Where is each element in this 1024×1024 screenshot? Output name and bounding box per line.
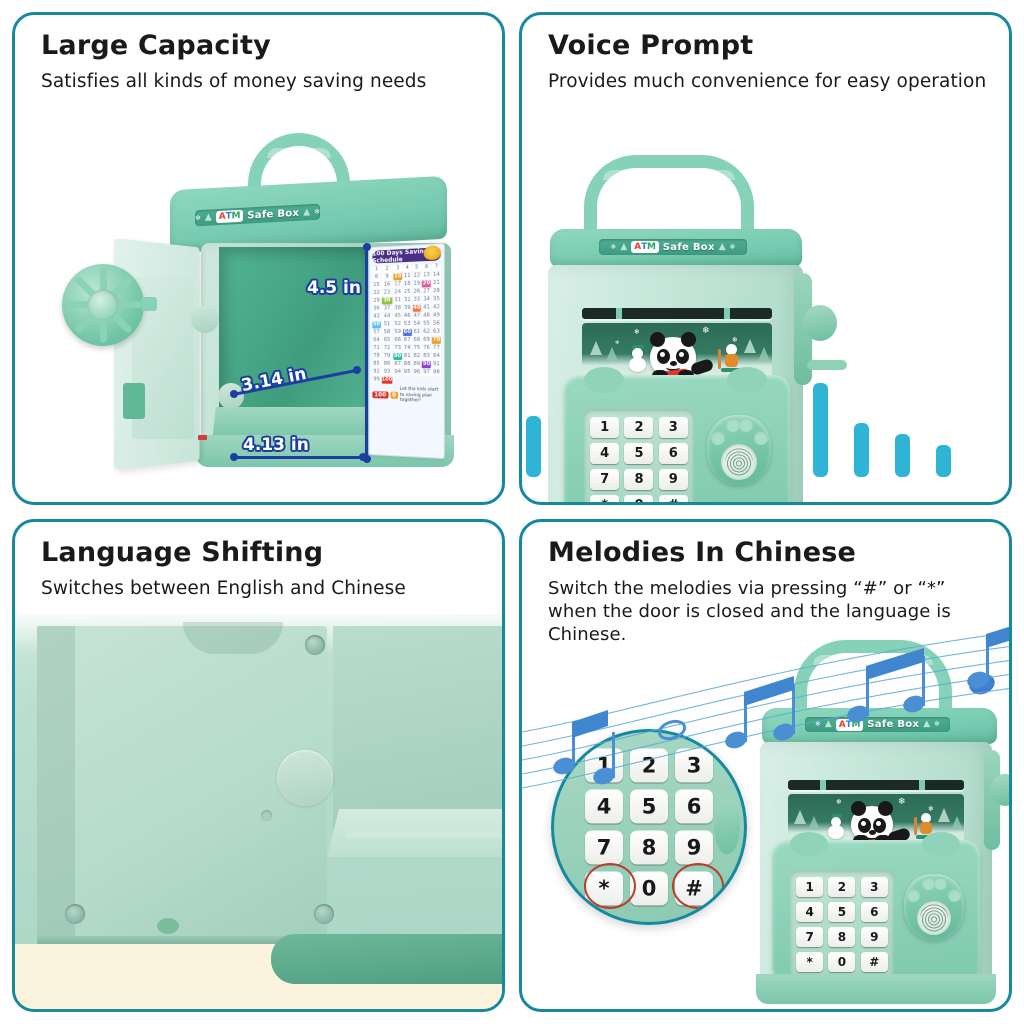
logo-letter-a: A xyxy=(219,211,226,223)
panda-eye xyxy=(657,349,670,364)
paw-toe xyxy=(948,889,961,902)
key-4[interactable]: 4 xyxy=(796,902,823,922)
schedule-day-49: 49 xyxy=(432,312,441,319)
dimension-cap xyxy=(230,390,238,398)
savings-schedule-sticker: 100 Days Saving Schedule 123456789101112… xyxy=(369,243,445,459)
schedule-day-100: 100 xyxy=(382,377,393,384)
paw-toe xyxy=(754,431,768,445)
schedule-day-99: 99 xyxy=(372,377,380,384)
snowflake-icon: ❄ xyxy=(611,244,617,251)
schedule-day-55: 55 xyxy=(422,321,431,328)
schedule-day-89: 89 xyxy=(413,361,422,368)
key-7[interactable]: 7 xyxy=(585,831,623,865)
schedule-day-61: 61 xyxy=(413,329,422,336)
schedule-day-33: 33 xyxy=(413,297,422,304)
dimension-cap xyxy=(353,366,361,374)
schedule-day-25: 25 xyxy=(403,289,412,296)
schedule-day-77: 77 xyxy=(432,345,441,352)
schedule-day-50: 50 xyxy=(372,321,380,328)
schedule-day-71: 71 xyxy=(372,345,380,352)
schedule-day-36: 36 xyxy=(372,306,380,313)
keypad-magnifier: 1 2 3 4 5 6 7 8 9 * 0 # xyxy=(551,729,747,925)
schedule-day-63: 63 xyxy=(432,329,441,336)
schedule-day-21: 21 xyxy=(432,280,441,287)
snowman-figure xyxy=(828,814,848,842)
waveform-bar xyxy=(936,445,951,477)
schedule-day-66: 66 xyxy=(393,337,402,344)
schedule-day-52: 52 xyxy=(393,321,402,328)
fingerprint-icon xyxy=(725,448,754,477)
schedule-day-65: 65 xyxy=(382,337,393,344)
schedule-day-42: 42 xyxy=(432,304,441,311)
schedule-day-81: 81 xyxy=(403,353,412,360)
schedule-day-59: 59 xyxy=(393,329,402,336)
logo-letter-a: A xyxy=(634,241,641,253)
schedule-day-27: 27 xyxy=(422,288,431,295)
key-4[interactable]: 4 xyxy=(585,790,623,824)
panda-character xyxy=(650,337,696,377)
pine-tree-icon xyxy=(951,816,963,830)
schedule-day-8: 8 xyxy=(372,274,380,281)
fingerprint-sensor-paw[interactable] xyxy=(904,874,964,940)
keypad[interactable]: 1 2 3 4 5 6 7 8 9 * 0 # xyxy=(584,409,694,505)
key-3[interactable]: 3 xyxy=(861,877,888,897)
music-note-accent xyxy=(967,670,998,697)
fingerprint-pad[interactable] xyxy=(917,901,951,935)
bear-ear-bump xyxy=(584,367,624,393)
logo-letter-m: M xyxy=(232,210,241,222)
logo-letter-m: M xyxy=(852,719,861,731)
key-6[interactable]: 6 xyxy=(675,790,713,824)
snowflake-icon: ❄ xyxy=(702,327,710,336)
panel-3-subtitle: Switches between English and Chinese xyxy=(41,577,484,601)
bear-ear-bump xyxy=(790,832,828,856)
schedule-badge-0: 0 xyxy=(390,392,398,399)
schedule-day-3: 3 xyxy=(393,265,402,272)
key-0[interactable]: 0 xyxy=(624,495,653,506)
ship-wheel-lock-handle[interactable] xyxy=(62,264,144,346)
snowflake-icon: ❄ xyxy=(634,329,640,336)
screw xyxy=(305,635,325,655)
schedule-day-72: 72 xyxy=(382,345,393,352)
panel-1-subtitle: Satisfies all kinds of money saving need… xyxy=(41,70,484,94)
schedule-day-82: 82 xyxy=(413,353,422,360)
round-boss xyxy=(277,750,333,806)
schedule-day-10: 10 xyxy=(393,273,402,280)
key-3[interactable]: 3 xyxy=(659,417,688,438)
atm-badge: ATM xyxy=(836,719,863,731)
schedule-day-97: 97 xyxy=(422,369,431,376)
pine-tree-icon: ▲ xyxy=(303,208,310,217)
schedule-day-54: 54 xyxy=(413,321,422,328)
panel-3-title: Language Shifting xyxy=(41,538,484,568)
schedule-day-88: 88 xyxy=(403,361,412,368)
schedule-day-60: 60 xyxy=(403,329,412,336)
logo-safe-box-text: Safe Box xyxy=(247,207,299,221)
dimension-cap xyxy=(363,243,371,251)
ski-pole xyxy=(914,817,917,835)
schedule-day-4: 4 xyxy=(403,265,412,272)
schedule-day-32: 32 xyxy=(403,297,412,304)
panda-ear xyxy=(650,332,665,347)
door-motor-disc xyxy=(191,305,219,333)
schedule-day-46: 46 xyxy=(403,313,412,320)
snowman-figure xyxy=(628,345,650,375)
schedule-day-94: 94 xyxy=(393,369,402,376)
fingerprint-icon xyxy=(920,904,947,931)
key-0[interactable]: 0 xyxy=(828,952,855,972)
waveform-bar xyxy=(854,423,869,477)
waveform-bar xyxy=(526,416,541,477)
schedule-day-64: 64 xyxy=(372,337,380,344)
right-cavity xyxy=(333,626,505,831)
schedule-day-9: 9 xyxy=(382,274,393,281)
key-star[interactable]: * xyxy=(590,495,619,506)
schedule-day-24: 24 xyxy=(393,289,402,296)
dimension-cap xyxy=(359,453,367,461)
schedule-day-58: 58 xyxy=(382,329,393,336)
key-8[interactable]: 8 xyxy=(624,469,653,490)
side-lock-bar xyxy=(807,360,847,370)
hash-key-highlight-circle xyxy=(672,863,724,909)
snowflake-icon: ❄ xyxy=(615,341,619,346)
skier-body xyxy=(920,822,932,834)
skier-body xyxy=(725,354,738,367)
panel-2-title: Voice Prompt xyxy=(548,31,991,61)
schedule-day-12: 12 xyxy=(413,272,422,279)
fingerprint-sensor-paw[interactable] xyxy=(707,415,771,485)
key-hash[interactable]: # xyxy=(659,495,688,506)
pine-tree-icon: ▲ xyxy=(620,243,627,252)
schedule-day-96: 96 xyxy=(413,369,422,376)
schedule-day-67: 67 xyxy=(403,337,412,344)
key-6[interactable]: 6 xyxy=(659,443,688,464)
schedule-day-15: 15 xyxy=(372,282,380,289)
schedule-day-73: 73 xyxy=(393,345,402,352)
key-4[interactable]: 4 xyxy=(590,443,619,464)
schedule-day-86: 86 xyxy=(382,361,393,368)
schedule-day-18: 18 xyxy=(403,281,412,288)
schedule-day-17: 17 xyxy=(393,281,402,288)
schedule-day-6: 6 xyxy=(422,264,431,271)
key-2[interactable]: 2 xyxy=(828,877,855,897)
schedule-day-5: 5 xyxy=(413,264,422,271)
snowflake-icon: ❄ xyxy=(730,244,736,251)
schedule-day-74: 74 xyxy=(403,345,412,352)
schedule-day-7: 7 xyxy=(432,263,441,270)
schedule-day-47: 47 xyxy=(413,313,422,320)
schedule-day-35: 35 xyxy=(432,296,441,303)
schedule-footer-text: Let the kids start to saving plan togeth… xyxy=(400,387,441,405)
dimension-label-width: 4.13 in xyxy=(243,435,309,455)
atm-safe-box-logo-band: ❄ ▲ ATM Safe Box ▲ ❄ xyxy=(599,239,747,255)
paw-toe xyxy=(711,431,725,445)
schedule-day-90: 90 xyxy=(422,361,431,368)
small-hole xyxy=(261,810,272,821)
side-lock-knob xyxy=(803,305,837,341)
panel-4-header: Melodies In Chinese Switch the melodies … xyxy=(548,538,983,646)
page-title: Large Capacity xyxy=(41,31,484,61)
schedule-badge-100: 100 xyxy=(372,391,388,398)
pine-tree-icon: ▲ xyxy=(205,213,212,222)
pine-tree-icon xyxy=(606,347,618,361)
schedule-day-22: 22 xyxy=(372,290,380,297)
money-insert-slot xyxy=(788,780,964,790)
schedule-day-69: 69 xyxy=(422,337,431,344)
key-1[interactable]: 1 xyxy=(585,749,623,783)
door-front-lip xyxy=(271,934,505,984)
atm-badge: ATM xyxy=(631,241,658,253)
schedule-day-31: 31 xyxy=(393,297,402,304)
schedule-day-1: 1 xyxy=(372,266,380,273)
logo-letter-a: A xyxy=(839,719,846,731)
rubber-foot xyxy=(157,918,179,934)
key-2[interactable]: 2 xyxy=(630,749,668,783)
schedule-day-79: 79 xyxy=(382,353,393,360)
dimension-line-width xyxy=(233,456,365,459)
schedule-day-75: 75 xyxy=(413,345,422,352)
schedule-day-19: 19 xyxy=(413,280,422,287)
door-red-indicator xyxy=(198,435,207,440)
snowman-body xyxy=(828,825,844,839)
wheel-shaft xyxy=(141,297,157,311)
schedule-day-80: 80 xyxy=(393,353,402,360)
panel-2-header: Voice Prompt Provides much convenience f… xyxy=(548,31,991,93)
schedule-number-grid: 1234567891011121314151617181920212223242… xyxy=(370,261,444,386)
schedule-day-20: 20 xyxy=(422,280,431,287)
panda-eye xyxy=(676,349,689,364)
key-5[interactable]: 5 xyxy=(624,443,653,464)
key-hash[interactable]: # xyxy=(861,952,888,972)
pine-tree-icon xyxy=(794,810,806,824)
screw xyxy=(314,904,334,924)
dimension-cap xyxy=(230,453,238,461)
logo-safe-box-text: Safe Box xyxy=(867,719,919,730)
carry-handle xyxy=(794,640,952,716)
schedule-day-98: 98 xyxy=(432,369,441,376)
schedule-day-93: 93 xyxy=(382,369,393,376)
snowflake-icon: ❄ xyxy=(195,214,201,221)
pine-tree-icon xyxy=(590,341,602,355)
panda-ear xyxy=(681,332,696,347)
snowflake-icon: ❄ xyxy=(815,721,821,728)
snowman-body xyxy=(629,357,646,372)
screw xyxy=(65,904,85,924)
schedule-day-91: 91 xyxy=(432,361,441,368)
infographic-sheet: Large Capacity Satisfies all kinds of mo… xyxy=(0,0,1024,1024)
schedule-day-13: 13 xyxy=(422,272,431,279)
inner-wall-shadow xyxy=(37,626,75,938)
key-9[interactable]: 9 xyxy=(861,927,888,947)
paw-toe xyxy=(739,418,753,432)
panel-1-header: Large Capacity Satisfies all kinds of mo… xyxy=(41,31,484,93)
waveform-bar xyxy=(813,383,828,477)
dimension-line-height xyxy=(365,247,368,459)
key-3[interactable]: 3 xyxy=(675,749,713,783)
schedule-day-48: 48 xyxy=(422,313,431,320)
snowflake-icon: ❄ xyxy=(934,721,940,728)
key-1[interactable]: 1 xyxy=(796,877,823,897)
schedule-day-14: 14 xyxy=(432,272,441,279)
panel-melodies-in-chinese: Melodies In Chinese Switch the melodies … xyxy=(519,519,1012,1012)
panel-4-title: Melodies In Chinese xyxy=(548,538,983,568)
schedule-day-92: 92 xyxy=(372,369,380,376)
schedule-day-44: 44 xyxy=(382,313,393,320)
cavity-bottom-rail xyxy=(345,822,505,838)
paw-toe xyxy=(907,889,920,902)
schedule-day-70: 70 xyxy=(432,337,441,344)
schedule-day-11: 11 xyxy=(403,273,412,280)
panel-3-header: Language Shifting Switches between Engli… xyxy=(41,538,484,600)
schedule-day-57: 57 xyxy=(372,329,380,336)
ski-pole xyxy=(718,349,721,369)
keypad[interactable]: 1 2 3 4 5 6 7 8 9 * 0 # xyxy=(790,870,894,978)
panel-voice-prompt: Voice Prompt Provides much convenience f… xyxy=(519,12,1012,505)
schedule-day-29: 29 xyxy=(372,298,380,305)
schedule-day-85: 85 xyxy=(372,361,380,368)
schedule-day-28: 28 xyxy=(432,288,441,295)
panda-character xyxy=(851,806,893,842)
panel-4-subtitle: Switch the melodies via pressing “#” or … xyxy=(548,577,983,646)
carry-handle xyxy=(584,155,754,239)
fingerprint-pad[interactable] xyxy=(721,444,757,480)
schedule-day-76: 76 xyxy=(422,345,431,352)
atm-safe-box-logo-band: ❄ ▲ ATM Safe Box ▲ ❄ xyxy=(805,717,950,732)
schedule-day-53: 53 xyxy=(403,321,412,328)
waveform-bar xyxy=(895,434,910,477)
schedule-day-39: 39 xyxy=(403,305,412,312)
door-latch-block xyxy=(123,383,145,419)
safe-base xyxy=(756,974,996,1004)
bear-ear-bump xyxy=(727,367,767,393)
schedule-day-34: 34 xyxy=(422,296,431,303)
atm-badge: ATM xyxy=(216,210,243,223)
schedule-day-43: 43 xyxy=(372,313,380,320)
paw-toe xyxy=(934,877,947,890)
key-9[interactable]: 9 xyxy=(675,831,713,865)
key-7[interactable]: 7 xyxy=(590,469,619,490)
side-lock-knob xyxy=(990,774,1012,806)
bear-ear-bump xyxy=(922,832,960,856)
money-insert-slot xyxy=(582,308,772,319)
key-8[interactable]: 8 xyxy=(630,831,668,865)
pine-tree-icon xyxy=(808,816,820,830)
magnifier-side-button xyxy=(714,800,740,854)
key-9[interactable]: 9 xyxy=(659,469,688,490)
key-1[interactable]: 1 xyxy=(590,417,619,438)
pine-tree-icon: ▲ xyxy=(923,720,930,729)
schedule-day-38: 38 xyxy=(393,305,402,312)
schedule-day-16: 16 xyxy=(382,281,393,288)
panda-ear xyxy=(851,801,866,816)
schedule-day-40: 40 xyxy=(413,305,422,312)
logo-safe-box-text: Safe Box xyxy=(663,242,715,253)
schedule-day-51: 51 xyxy=(382,321,393,328)
snowflake-icon: ❄ xyxy=(898,798,906,807)
pine-tree-icon xyxy=(758,347,770,361)
logo-letter-m: M xyxy=(647,241,656,253)
pine-tree-icon: ▲ xyxy=(825,720,832,729)
key-6[interactable]: 6 xyxy=(861,902,888,922)
schedule-day-30: 30 xyxy=(382,297,393,304)
snowflake-icon: ❄ xyxy=(314,208,320,215)
key-7[interactable]: 7 xyxy=(796,927,823,947)
key-8[interactable]: 8 xyxy=(828,927,855,947)
schedule-day-78: 78 xyxy=(372,353,380,360)
schedule-day-56: 56 xyxy=(432,320,441,327)
paw-toe xyxy=(726,418,740,432)
schedule-day-83: 83 xyxy=(422,353,431,360)
key-5[interactable]: 5 xyxy=(630,790,668,824)
schedule-footer: 100 0 Let the kids start to saving plan … xyxy=(372,386,440,404)
schedule-day-84: 84 xyxy=(432,353,441,360)
schedule-day-62: 62 xyxy=(422,329,431,336)
schedule-day-37: 37 xyxy=(382,305,393,312)
panel-large-capacity: Large Capacity Satisfies all kinds of mo… xyxy=(12,12,505,505)
schedule-day-68: 68 xyxy=(413,337,422,344)
schedule-day-95: 95 xyxy=(403,369,412,376)
key-5[interactable]: 5 xyxy=(828,902,855,922)
schedule-day-2: 2 xyxy=(382,266,393,273)
key-star[interactable]: * xyxy=(796,952,823,972)
dimension-label-height: 4.5 in xyxy=(307,278,361,298)
pine-tree-icon: ▲ xyxy=(719,243,726,252)
star-key-highlight-circle xyxy=(584,863,636,909)
schedule-day-26: 26 xyxy=(413,289,422,296)
key-2[interactable]: 2 xyxy=(624,417,653,438)
panda-ear xyxy=(878,801,893,816)
schedule-day-23: 23 xyxy=(382,289,393,296)
schedule-day-87: 87 xyxy=(393,361,402,368)
panel-2-subtitle: Provides much convenience for easy opera… xyxy=(548,70,991,94)
panel-language-shifting: Language Shifting Switches between Engli… xyxy=(12,519,505,1012)
schedule-day-41: 41 xyxy=(422,304,431,311)
snowflake-icon: ❄ xyxy=(836,799,842,806)
schedule-day-45: 45 xyxy=(393,313,402,320)
